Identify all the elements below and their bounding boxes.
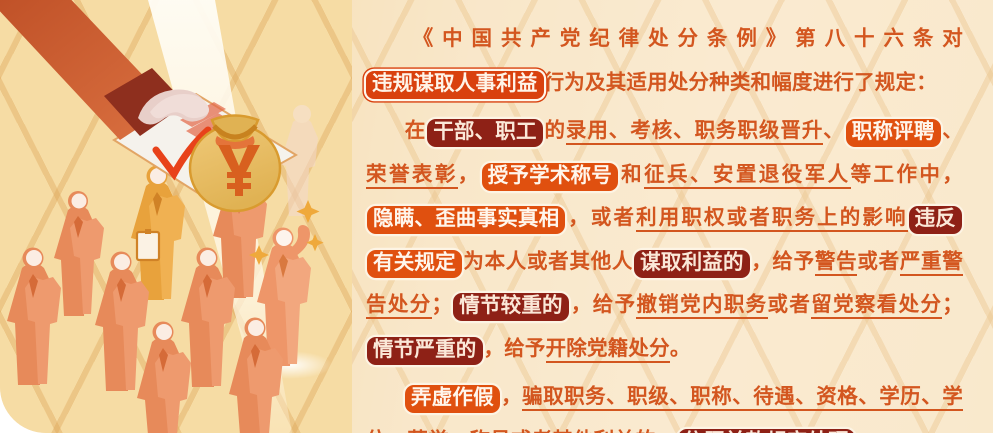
illustration-svg [0,0,352,433]
badge-fraud[interactable]: 弄虚作假 [405,385,500,413]
badge-academic-title-award[interactable]: 授予学术称号 [482,163,618,191]
p3-run-6: 。 [856,430,877,433]
underline-abuse-of-authority: 利用职权或者职务上的影响 [636,207,907,232]
underline-removal-party-post: 撤销党内职务 [636,294,767,319]
badge-violate[interactable]: 违反 [909,206,962,234]
crowd-figure [54,191,104,316]
p2-run-31: ； [942,294,963,316]
text-content-column: 《中国共产党纪律处分条例》第八十六条对违规谋取人事利益行为及其适用处分种类和幅度… [352,0,993,433]
p2-run-15: ，或者 [566,207,636,229]
underline-conscription-veteran: 征兵、安置退役军人 [644,164,850,189]
paragraph-3: 弄虚作假，骗取职务、职级、职称、待遇、资格、学历、学位、荣誉、称号或者其他利益的… [366,376,963,433]
p2-run-29: 或者 [768,294,812,316]
underline-honor-commendation: 荣誉表彰 [366,164,458,189]
illustration-panel [0,0,352,433]
p2-run-9: ， [458,164,481,186]
underline-recruit-assess-promote: 录用、考核、职务职级晋升 [566,120,823,145]
badge-circumstances-serious[interactable]: 情节较重的 [453,293,569,321]
briefcase-figure [131,166,185,301]
p2-run-35: 。 [670,338,691,360]
infographic-card: 《中国共产党纪律处分条例》第八十六条对违规谋取人事利益行为及其适用处分种类和幅度… [0,0,993,433]
paragraph-1: 《中国共产党纪律处分条例》第八十六条对违规谋取人事利益行为及其适用处分种类和幅度… [366,18,963,105]
p2-run-3: 的 [544,120,566,142]
p2-run-19: 为本人或者其他人 [463,251,633,273]
p2-run-1: 在 [404,120,426,142]
p2-run-27: ，给予 [570,294,637,316]
p3-run-2: ， [501,386,522,408]
badge-cadres-staff[interactable]: 干部、职工 [427,119,543,147]
badge-seek-benefit[interactable]: 谋取利益的 [634,250,750,278]
paragraph-2: 在干部、职工的录用、考核、职务职级晋升、职称评聘、荣誉表彰，授予学术称号和征兵、… [366,110,963,371]
tag-illegal-personnel-benefit[interactable]: 违规谋取人事利益 [366,71,544,99]
underline-probation-party: 留党察看处分 [811,294,942,319]
badge-circumstances-grave[interactable]: 情节严重的 [367,337,483,365]
underline-expulsion-party: 开除党籍处分 [546,338,670,363]
p2-run-33: ，给予 [484,338,546,360]
badge-relevant-rules[interactable]: 有关规定 [367,250,462,278]
p2-run-11: 和 [619,164,644,186]
crowd-figure [137,322,191,433]
underline-warning: 警告 [815,251,857,276]
p2-run-21: ，给予 [751,251,815,273]
p2-run-25: ； [432,294,453,316]
p1-run-plain-1: 《中国共产党纪律处分条例》第八十六条对 [404,28,963,50]
badge-conceal-distort-facts[interactable]: 隐瞒、歪曲事实真相 [367,206,565,234]
crowd-figure [7,248,61,386]
p3-run-4: ， [656,430,677,433]
p2-run-7: 、 [942,120,963,142]
badge-title-appointment[interactable]: 职称评聘 [846,119,941,147]
p2-run-23: 或者 [857,251,899,273]
p1-run-plain-2: 行为及其适用处分种类和幅度进行了规定： [544,72,937,94]
p2-run-13: 等工作中， [851,164,963,186]
badge-handle-per-preceding[interactable]: 依照前款规定处理 [678,429,856,433]
p2-run-5: 、 [823,120,844,142]
